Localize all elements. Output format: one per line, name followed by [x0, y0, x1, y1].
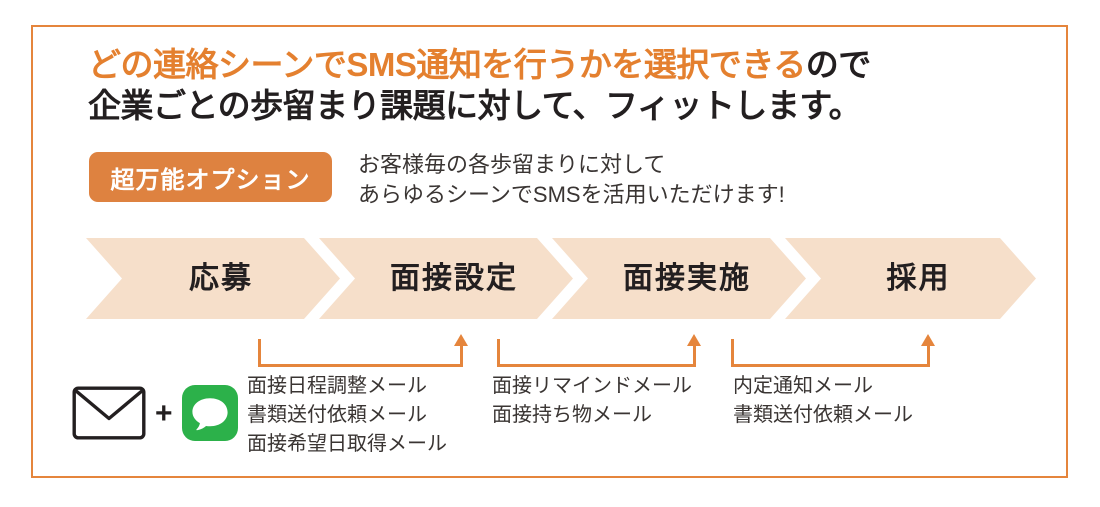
connector-bracket-1: [258, 335, 463, 367]
description-line-2: あらゆるシーンでSMSを活用いただけます!: [358, 180, 978, 210]
list-item: 面接持ち物メール: [492, 401, 692, 430]
flow-step-label: 応募: [189, 264, 253, 294]
arrow-up-icon: [921, 334, 935, 346]
sms-bubble-icon: [182, 385, 238, 446]
plus-sign: +: [155, 399, 173, 432]
channel-icons: +: [72, 385, 238, 446]
flow-step-label: 採用: [887, 264, 951, 294]
flow-step-application: 応募: [86, 238, 340, 319]
bracket-left-stub: [731, 339, 734, 367]
flow-step-interview-held: 面接実施: [552, 238, 806, 319]
headline-line-2: 企業ごとの歩留まり課題に対して、フィットします。: [88, 85, 1018, 126]
mail-list-group-3: 内定通知メール 書類送付依頼メール: [733, 372, 913, 430]
bracket-left-stub: [497, 339, 500, 367]
flow-step-label: 面接設定: [390, 264, 518, 294]
connector-bracket-3: [731, 335, 930, 367]
infographic-canvas: どの連絡シーンでSMS通知を行うかを選択できるので 企業ごとの歩留まり課題に対し…: [0, 0, 1100, 507]
list-item: 面接希望日取得メール: [247, 430, 447, 459]
description-text: お客様毎の各歩留まりに対して あらゆるシーンでSMSを活用いただけます!: [358, 150, 978, 210]
description-line-1: お客様毎の各歩留まりに対して: [358, 150, 978, 180]
flow-step-hire: 採用: [785, 238, 1036, 319]
list-item: 書類送付依頼メール: [247, 401, 447, 430]
list-item: 面接日程調整メール: [247, 372, 447, 401]
headline-suffix: ので: [806, 46, 871, 83]
flow-step-interview-setup: 面接設定: [319, 238, 573, 319]
mail-list-group-2: 面接リマインドメール 面接持ち物メール: [492, 372, 692, 430]
list-item: 内定通知メール: [733, 372, 913, 401]
badge-label: 超万能オプション: [111, 160, 311, 195]
bracket-left-stub: [258, 339, 261, 367]
process-flow: 応募 面接設定 面接実施 採用: [86, 238, 1036, 319]
list-item: 書類送付依頼メール: [733, 401, 913, 430]
connector-bracket-2: [497, 335, 696, 367]
envelope-icon: [72, 386, 146, 445]
arrow-up-icon: [687, 334, 701, 346]
arrow-up-icon: [454, 334, 468, 346]
mail-list-group-1: 面接日程調整メール 書類送付依頼メール 面接希望日取得メール: [247, 372, 447, 459]
bracket-horizontal-bar: [497, 364, 696, 367]
status-badge: 超万能オプション: [89, 152, 332, 202]
list-item: 面接リマインドメール: [492, 372, 692, 401]
bracket-horizontal-bar: [731, 364, 930, 367]
page-title: どの連絡シーンでSMS通知を行うかを選択できるので 企業ごとの歩留まり課題に対し…: [88, 44, 1018, 126]
flow-step-label: 面接実施: [623, 264, 751, 294]
headline-emphasis: どの連絡シーンでSMS通知を行うかを選択できる: [88, 46, 806, 83]
headline-line-1: どの連絡シーンでSMS通知を行うかを選択できるので: [88, 44, 1018, 85]
bracket-horizontal-bar: [258, 364, 463, 367]
